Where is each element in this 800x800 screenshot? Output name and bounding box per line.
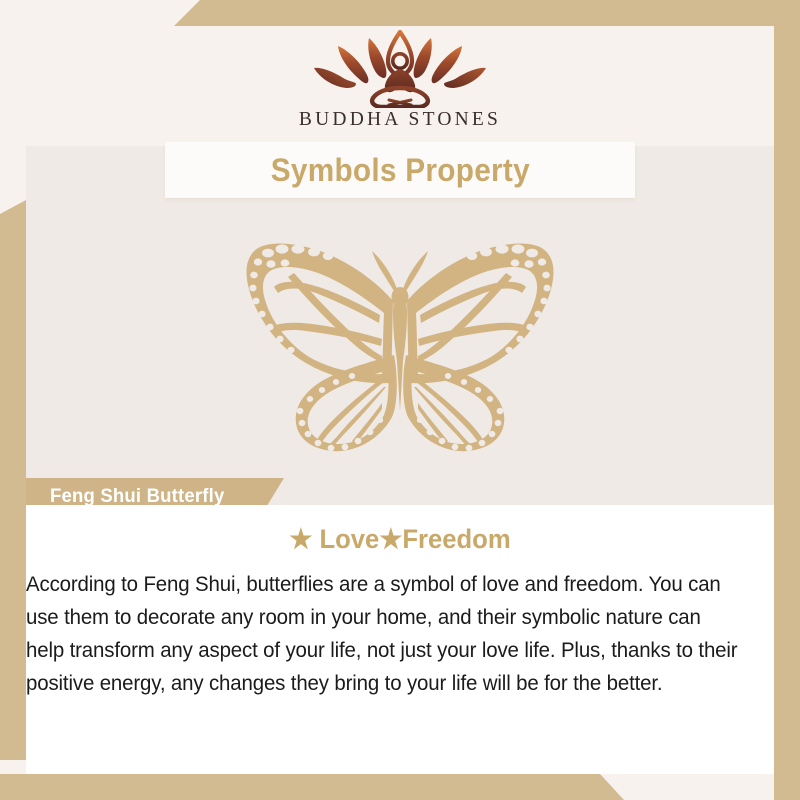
infographic-page: BUDDHA STONES Symbols Property: [0, 0, 800, 800]
page-title: Symbols Property: [270, 152, 529, 189]
frame-bar-bottom: [0, 774, 640, 800]
brand-name: BUDDHA STONES: [299, 109, 501, 131]
frame-bar-right: [774, 0, 800, 800]
butterfly-icon: [224, 235, 576, 467]
frame-bar-top: [0, 0, 800, 26]
frame-bar-left: [0, 200, 26, 760]
illustration-area: [26, 206, 774, 496]
article-panel: ★ Love★Freedom According to Feng Shui, b…: [26, 505, 774, 774]
lotus-meditation-icon: [311, 30, 489, 108]
article-body: According to Feng Shui, butterflies are …: [26, 555, 748, 700]
content-panel: BUDDHA STONES Symbols Property: [26, 26, 774, 774]
title-banner: Symbols Property: [165, 142, 635, 198]
article-subheading: ★ Love★Freedom: [45, 505, 756, 555]
brand-logo: BUDDHA STONES: [26, 26, 774, 146]
